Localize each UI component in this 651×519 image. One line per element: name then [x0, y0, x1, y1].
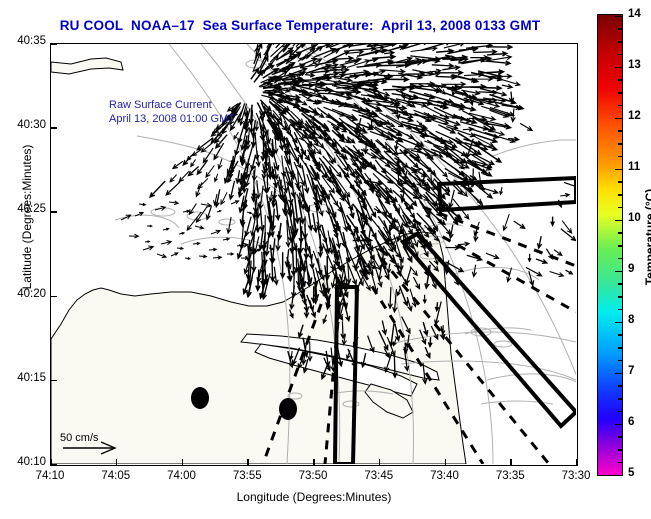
- current-vector: [528, 254, 531, 261]
- colorbar-tick-mark: [618, 54, 623, 56]
- colorbar-tick-label: 14: [628, 8, 641, 20]
- current-vector: [191, 159, 196, 166]
- colorbar-tick-mark: [618, 258, 623, 260]
- y-tick-label: 40:10: [0, 456, 46, 468]
- land-newjersey: [51, 58, 123, 74]
- current-vector: [197, 161, 207, 175]
- current-vector: [179, 232, 184, 234]
- colorbar-tick-mark: [618, 79, 623, 81]
- x-axis-label: Longitude (Degrees:Minutes): [50, 490, 578, 504]
- current-vector: [546, 249, 552, 259]
- current-vector: [492, 77, 520, 86]
- current-vector: [463, 127, 474, 131]
- current-vector: [332, 109, 355, 118]
- colorbar-tick-mark: [618, 41, 623, 43]
- y-tick-label: 40:35: [0, 35, 46, 47]
- station-marker-west: [191, 387, 209, 409]
- colorbar-tick-label: 8: [628, 314, 634, 326]
- current-vector: [536, 259, 547, 263]
- colorbar-tick-mark: [618, 105, 623, 107]
- current-vector: [179, 171, 189, 181]
- current-vector: [231, 201, 239, 204]
- annotation-line-1: Raw Surface Current: [109, 99, 212, 111]
- x-tick-label: 73:40: [420, 470, 470, 482]
- y-tick-mark: [50, 43, 57, 45]
- colorbar-tick-label: 5: [628, 467, 634, 479]
- contour-blob-3: [219, 219, 235, 225]
- current-vector: [486, 253, 499, 258]
- colorbar-tick-mark: [615, 220, 623, 222]
- current-vector: [443, 82, 465, 86]
- current-vector: [150, 181, 165, 197]
- current-vector: [129, 234, 138, 238]
- x-tick-mark: [116, 459, 118, 466]
- colorbar-tick-mark: [618, 245, 623, 247]
- current-vector: [245, 217, 251, 236]
- colorbar-tick-mark: [618, 398, 623, 400]
- colorbar-tick-mark: [615, 322, 623, 324]
- current-vector: [347, 196, 354, 218]
- station-marker-east: [279, 398, 297, 420]
- x-tick-mark: [50, 459, 52, 466]
- x-tick-label: 73:55: [222, 470, 272, 482]
- current-vector: [147, 225, 152, 227]
- current-vector: [247, 212, 251, 214]
- colorbar-tick-mark: [618, 360, 623, 362]
- current-vector: [274, 267, 278, 285]
- colorbar-tick-label: 12: [628, 110, 641, 122]
- current-vector: [538, 236, 542, 248]
- current-vector: [183, 210, 189, 213]
- current-vector: [404, 171, 408, 180]
- current-vector: [209, 248, 216, 251]
- y-tick-mark: [50, 211, 57, 213]
- current-vector: [551, 217, 555, 226]
- colorbar-tick-mark: [618, 207, 623, 209]
- x-tick-mark: [182, 459, 184, 466]
- contour-9: [493, 140, 576, 156]
- current-vector: [377, 139, 387, 149]
- current-vector: [318, 234, 322, 256]
- current-vector: [486, 61, 510, 65]
- current-vector: [502, 84, 512, 88]
- colorbar-tick-mark: [615, 271, 623, 273]
- current-vector: [198, 179, 208, 189]
- colorbar-tick-mark: [615, 424, 623, 426]
- colorbar-tick-label: 7: [628, 365, 634, 377]
- current-vector: [432, 64, 454, 68]
- current-vector: [526, 267, 542, 275]
- current-vector: [171, 253, 178, 256]
- annotation-line-2: April 13, 2008 01:00 GMT: [109, 113, 235, 125]
- current-vector: [201, 203, 211, 207]
- colorbar-tick-mark: [618, 92, 623, 94]
- x-tick-mark: [379, 459, 381, 466]
- current-vector: [514, 221, 525, 228]
- current-vector: [276, 200, 280, 219]
- current-vector: [234, 132, 238, 139]
- current-vector: [145, 241, 149, 243]
- current-vector: [560, 193, 569, 197]
- colorbar-tick-mark: [618, 143, 623, 145]
- x-tick-mark: [313, 459, 315, 466]
- x-tick-label: 73:30: [551, 470, 601, 482]
- current-vector: [227, 253, 233, 256]
- contour-blob-7: [494, 341, 512, 347]
- current-annotation: Raw Surface CurrentApril 13, 2008 01:00 …: [109, 98, 235, 126]
- current-vector: [302, 83, 324, 87]
- colorbar-tick-mark: [618, 309, 623, 311]
- current-vector: [561, 229, 576, 241]
- x-tick-label: 73:45: [354, 470, 404, 482]
- colorbar-tick-mark: [618, 385, 623, 387]
- current-vector: [177, 247, 183, 249]
- current-vector: [223, 238, 229, 241]
- colorbar-tick-mark: [615, 475, 623, 477]
- current-vector: [272, 189, 276, 200]
- current-vector: [566, 270, 573, 274]
- colorbar-tick-mark: [618, 334, 623, 336]
- current-vector: [218, 159, 222, 169]
- colorbar-tick-mark: [618, 156, 623, 158]
- colorbar-tick-mark: [618, 449, 623, 451]
- current-vector: [161, 241, 171, 245]
- current-vector: [206, 206, 211, 219]
- colorbar-tick-mark: [618, 28, 623, 30]
- current-vector: [169, 201, 178, 205]
- colorbar-tick-mark: [618, 181, 623, 183]
- map-plot-area[interactable]: Raw Surface CurrentApril 13, 2008 01:00 …: [50, 43, 578, 466]
- current-vector: [387, 77, 408, 81]
- current-vector: [189, 204, 196, 215]
- current-vector: [185, 257, 190, 259]
- colorbar-tick-mark: [618, 411, 623, 413]
- y-tick-label: 40:15: [0, 372, 46, 384]
- colorbar-tick-label: 9: [628, 263, 634, 275]
- x-tick-label: 74:05: [91, 470, 141, 482]
- y-axis-label: Latitude (Degrees:Minutes): [20, 117, 34, 317]
- y-tick-mark: [50, 380, 57, 382]
- colorbar-tick-mark: [618, 130, 623, 132]
- colorbar-tick-mark: [618, 194, 623, 196]
- current-vector: [195, 226, 204, 229]
- colorbar-tick-mark: [618, 347, 623, 349]
- colorbar-tick-mark: [618, 232, 623, 234]
- current-vector: [215, 174, 218, 182]
- x-tick-label: 74:10: [25, 470, 75, 482]
- current-vector: [206, 166, 214, 178]
- current-vector: [466, 44, 492, 48]
- current-vector: [170, 175, 177, 182]
- current-vector: [193, 242, 200, 245]
- current-vector: [157, 254, 166, 258]
- x-tick-mark: [510, 459, 512, 466]
- current-vector: [217, 211, 221, 213]
- current-vector: [470, 55, 488, 59]
- current-vector: [183, 155, 191, 165]
- colorbar-tick-mark: [615, 16, 623, 18]
- colorbar-tick-mark: [618, 436, 623, 438]
- colorbar-tick-mark: [615, 118, 623, 120]
- y-tick-mark: [50, 127, 57, 129]
- current-vector: [281, 252, 285, 277]
- current-vector: [139, 203, 145, 206]
- current-vector: [529, 271, 534, 285]
- colorbar-tick-label: 13: [628, 59, 641, 71]
- colorbar-tick-label: 11: [628, 161, 640, 173]
- colorbar-tick-mark: [615, 169, 623, 171]
- colorbar-tick-mark: [618, 462, 623, 464]
- current-vector: [478, 172, 482, 187]
- current-vector: [211, 230, 220, 234]
- x-tick-label: 74:00: [157, 470, 207, 482]
- current-vector: [166, 182, 180, 195]
- x-tick-label: 73:50: [288, 470, 338, 482]
- colorbar-tick-label: 6: [628, 416, 634, 428]
- current-vector: [143, 246, 153, 250]
- x-tick-label: 73:35: [485, 470, 535, 482]
- current-vector: [256, 180, 260, 198]
- current-vector: [203, 148, 213, 162]
- current-vector: [325, 82, 338, 86]
- current-vector: [520, 123, 532, 130]
- current-vector: [503, 214, 509, 230]
- current-vector: [221, 192, 227, 204]
- current-vector: [270, 259, 274, 281]
- colorbar-tick-mark: [618, 283, 623, 285]
- current-vector: [500, 187, 503, 194]
- current-vector: [163, 228, 169, 230]
- current-vector: [417, 121, 422, 126]
- colorbar-tick-mark: [615, 67, 623, 69]
- x-tick-mark: [576, 459, 578, 466]
- current-vector: [229, 181, 234, 199]
- colorbar-tick-mark: [618, 296, 623, 298]
- colorbar-title: Temperature (°C): [643, 147, 651, 327]
- current-vector: [550, 272, 564, 277]
- current-vector: [173, 161, 183, 168]
- x-tick-mark: [247, 459, 249, 466]
- current-vector: [472, 265, 476, 277]
- y-tick-mark: [50, 296, 57, 298]
- current-vector: [213, 256, 221, 259]
- scale-bar-label: 50 cm/s: [60, 432, 99, 444]
- current-vector: [473, 50, 496, 54]
- current-vector: [316, 44, 329, 49]
- current-vector: [404, 97, 412, 100]
- x-tick-mark: [445, 459, 447, 466]
- current-vector: [361, 50, 379, 56]
- current-vector: [554, 250, 562, 256]
- page-title: RU COOL NOAA–17 Sea Surface Temperature:…: [0, 18, 600, 33]
- current-vector: [199, 255, 206, 258]
- colorbar-tick-label: 10: [628, 212, 641, 224]
- colorbar-tick-mark: [615, 373, 623, 375]
